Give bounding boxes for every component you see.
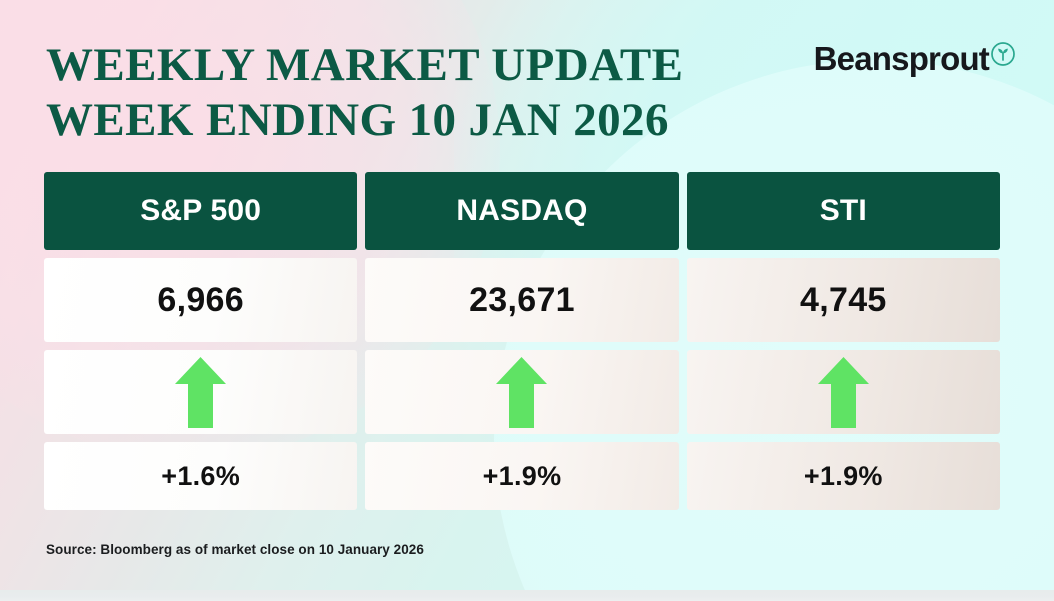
column-name-sp500: S&P 500 xyxy=(140,194,261,228)
column-name-nasdaq: NASDAQ xyxy=(456,194,587,228)
change-cell-sti: +1.9% xyxy=(687,442,1000,510)
arrow-up-icon xyxy=(818,357,869,428)
page-title: WEEKLY MARKET UPDATE WEEK ENDING 10 JAN … xyxy=(46,38,786,148)
index-value-sp500: 6,966 xyxy=(157,281,244,320)
change-value-nasdaq: +1.9% xyxy=(483,461,562,492)
value-cell-nasdaq: 23,671 xyxy=(365,258,678,342)
change-cell-sp500: +1.6% xyxy=(44,442,357,510)
value-cell-sti: 4,745 xyxy=(687,258,1000,342)
change-value-sp500: +1.6% xyxy=(161,461,240,492)
value-cell-sp500: 6,966 xyxy=(44,258,357,342)
source-note: Source: Bloomberg as of market close on … xyxy=(46,542,424,557)
title-line-primary: WEEKLY MARKET UPDATE xyxy=(46,38,786,93)
direction-cell-sti xyxy=(687,350,1000,434)
index-value-sti: 4,745 xyxy=(800,281,887,320)
index-value-nasdaq: 23,671 xyxy=(469,281,575,320)
sprout-circle-icon xyxy=(990,41,1016,67)
change-value-sti: +1.9% xyxy=(804,461,883,492)
bottom-strip xyxy=(0,590,1054,601)
arrow-up-icon xyxy=(175,357,226,428)
table-header-cell-sti: STI xyxy=(687,172,1000,250)
table-header-cell-nasdaq: NASDAQ xyxy=(365,172,678,250)
title-line-secondary: WEEK ENDING 10 JAN 2026 xyxy=(46,93,786,148)
direction-cell-nasdaq xyxy=(365,350,678,434)
market-table: S&P 500 NASDAQ STI 6,966 23,671 4,745 xyxy=(44,172,1000,510)
direction-cell-sp500 xyxy=(44,350,357,434)
table-header-cell-sp500: S&P 500 xyxy=(44,172,357,250)
change-cell-nasdaq: +1.9% xyxy=(365,442,678,510)
brand-logo-text: Beansprout xyxy=(814,40,989,78)
brand-logo: Beansprout xyxy=(814,40,1016,78)
market-update-infographic: WEEKLY MARKET UPDATE WEEK ENDING 10 JAN … xyxy=(0,0,1054,601)
arrow-up-icon xyxy=(496,357,547,428)
column-name-sti: STI xyxy=(820,194,867,228)
